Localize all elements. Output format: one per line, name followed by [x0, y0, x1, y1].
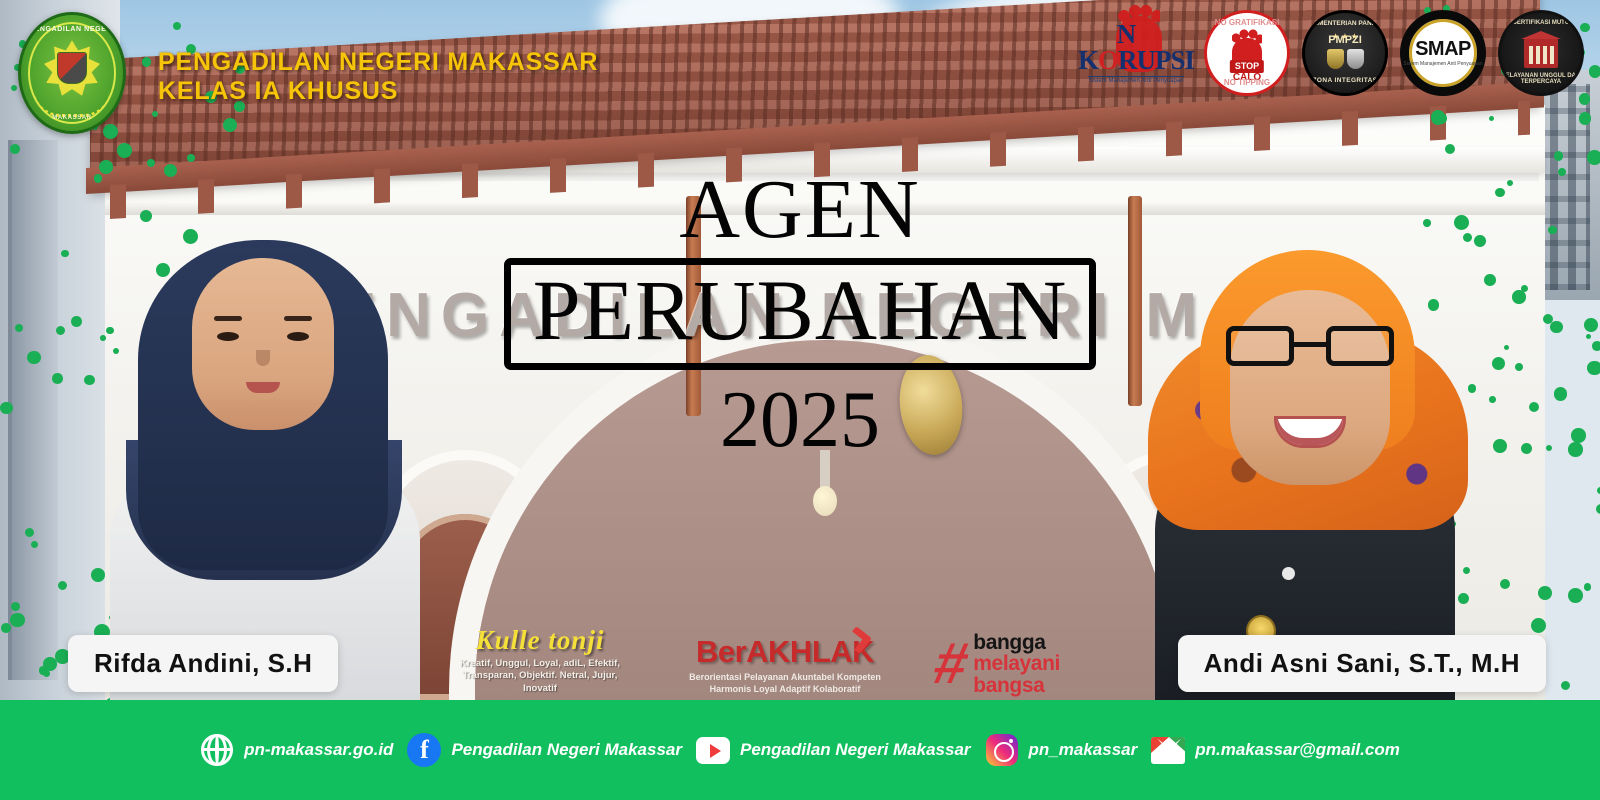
kulle-tonji-logo: Kulle tonji Kreatif, Unggul, Loyal, adiL…: [445, 627, 635, 696]
seal-top-text: PENGADILAN NEGERI: [21, 26, 123, 33]
badge-title: SMAP: [1415, 39, 1471, 59]
badge-line2-rest: RUPSI: [1118, 45, 1194, 75]
headline-year: 2025: [0, 378, 1600, 462]
footer-item-instagram[interactable]: pn_makassar: [985, 733, 1138, 767]
instagram-text: pn_makassar: [1029, 740, 1138, 760]
facebook-icon: f: [407, 733, 441, 767]
email-text: pn.makassar@gmail.com: [1195, 740, 1400, 760]
certification-badges: NO KORUPSI Sistem Manajemen Anti Penyuap…: [1080, 10, 1584, 96]
badge-bottom-text: NO TIPPING: [1207, 79, 1287, 87]
nameplate-left: Rifda Andini, S.H: [68, 635, 338, 692]
footer-item-facebook[interactable]: f Pengadilan Negeri Makassar: [407, 733, 682, 767]
badge-line2-k: K: [1078, 45, 1098, 75]
globe-icon: [200, 733, 234, 767]
akhlak-line-1: Berorientasi Pelayanan Akuntabel Kompete…: [680, 671, 890, 684]
youtube-text: Pengadilan Negeri Makassar: [740, 740, 971, 760]
program-logos: Kulle tonji Kreatif, Unggul, Loyal, adiL…: [445, 606, 1125, 696]
sertifikasi-mutu-badge: SERTIFIKASI MUTU PELAYANAN UNGGUL DAN TE…: [1498, 10, 1584, 96]
akhlak-prefix: Ber: [696, 634, 746, 669]
berakhlak-logo: BerAKHLAK Berorientasi Pelayanan Akuntab…: [680, 636, 890, 696]
headline: AGEN PERUBAHAN 2025: [0, 170, 1600, 462]
akhlak-line-2: Harmonis Loyal Adaptif Kolaboratif: [680, 683, 890, 696]
nameplate-right: Andi Asni Sani, S.T., M.H: [1178, 635, 1546, 692]
agen-perubahan-banner: PENGADILAN NEGERI MAK PENGADILAN NE: [0, 0, 1600, 800]
footer-item-website[interactable]: pn-makassar.go.id: [200, 733, 393, 767]
gmail-icon: [1151, 733, 1185, 767]
organization-title: PENGADILAN NEGERI MAKASSAR KELAS IA KHUS…: [158, 48, 598, 105]
website-text: pn-makassar.go.id: [244, 740, 393, 760]
badge-top-text: KEMENTERIAN PANRB: [1305, 21, 1385, 28]
bangga-melayani-bangsa-logo: # bangga melayani bangsa: [935, 632, 1125, 696]
footer-item-email[interactable]: pn.makassar@gmail.com: [1151, 733, 1400, 767]
footer-item-youtube[interactable]: Pengadilan Negeri Makassar: [696, 733, 971, 767]
headline-line-1: AGEN: [0, 170, 1600, 250]
hashtag-icon: #: [929, 635, 974, 693]
badge-bottom-text: ZONA INTEGRITAS: [1305, 78, 1385, 85]
headline-line-2: PERUBAHAN: [533, 267, 1068, 353]
no-calo-badge: NO GRATIFIKASI STOP CALO NO TIPPING: [1204, 10, 1290, 96]
headline-box: PERUBAHAN: [504, 258, 1097, 370]
youtube-icon: [696, 733, 730, 767]
smap-badge: SMAP Sistem Manajemen Anti Penyuapan: [1400, 10, 1486, 96]
instagram-icon: [985, 733, 1019, 767]
badge-top-text: NO GRATIFIKASI: [1207, 19, 1287, 27]
no-korupsi-badge: NO KORUPSI Sistem Manajemen Anti Penyuap…: [1080, 10, 1192, 96]
badge-shields: [1327, 49, 1364, 69]
badge-top-text: SERTIFIKASI MUTU: [1501, 20, 1581, 26]
kulle-title: Kulle tonji: [445, 627, 635, 654]
temple-icon: [1524, 38, 1558, 68]
badge-subtitle: Sistem Manajemen Anti Penyuapan: [1403, 61, 1482, 67]
badge-line2-o: O: [1098, 45, 1118, 75]
badge-bottom-text: PELAYANAN UNGGUL DAN TERPERCAYA: [1501, 73, 1581, 85]
kulle-line-1: Kreatif, Unggul, Loyal, adiL, Efektif,: [445, 658, 635, 671]
seal-shield: [57, 52, 87, 84]
badge-subtitle: Sistem Manajemen Anti Penyuapan: [1088, 76, 1183, 84]
shirt-button: [1282, 567, 1295, 580]
bangga-line-1: bangga: [973, 632, 1060, 653]
bangga-line-3: bangsa: [973, 675, 1060, 696]
kulle-line-2: Transparan, Objektif. Netral, Jujur, Ino…: [445, 670, 635, 696]
footer-contact-bar: pn-makassar.go.id f Pengadilan Negeri Ma…: [0, 700, 1600, 800]
badge-stars: ★ ★ ★: [1305, 32, 1385, 41]
facebook-text: Pengadilan Negeri Makassar: [451, 740, 682, 760]
bangga-line-2: melayani: [973, 653, 1060, 674]
pmpzi-zona-integritas-badge: KEMENTERIAN PANRB ★ ★ ★ PMPZI ZONA INTEG…: [1302, 10, 1388, 96]
